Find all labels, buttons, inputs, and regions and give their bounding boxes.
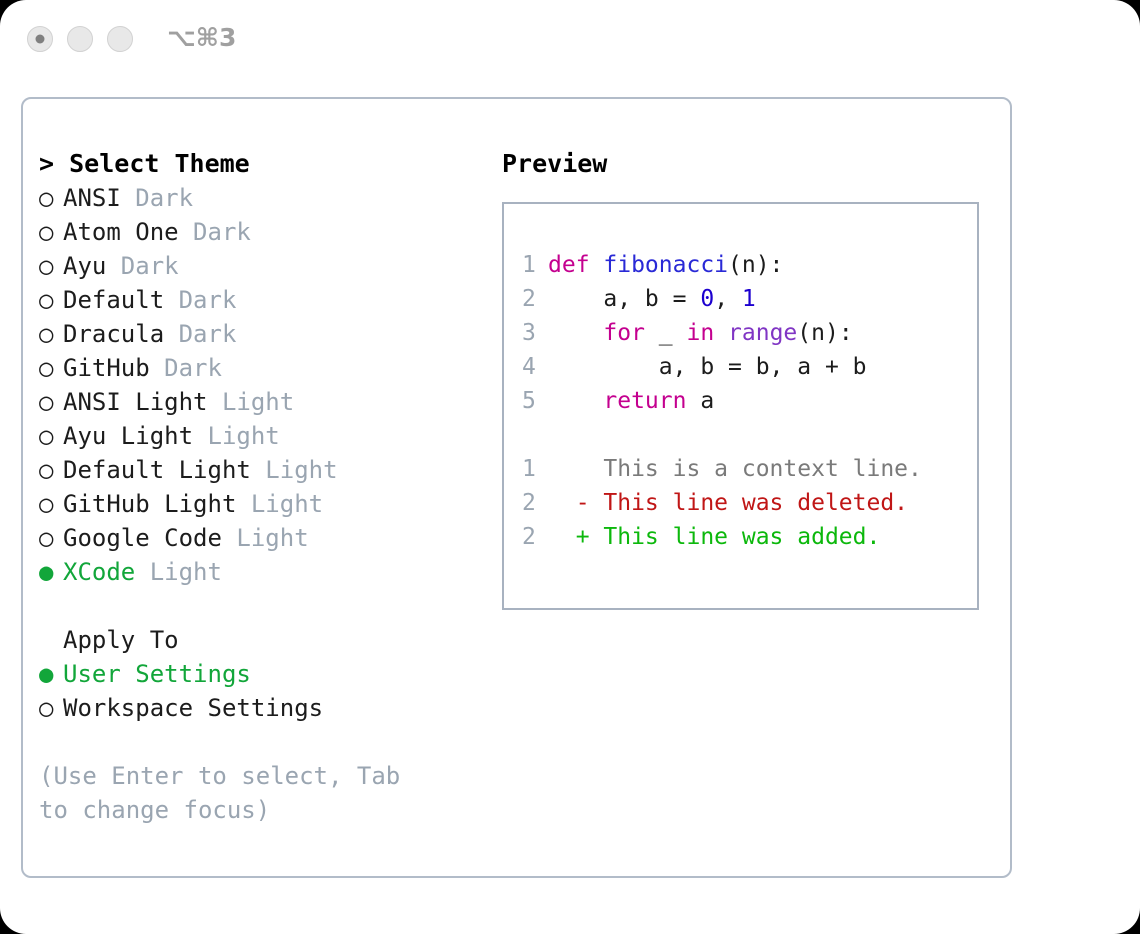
theme-picker-column: > Select Theme ○ANSI Dark○Atom One Dark○… bbox=[39, 147, 479, 827]
diff-line: 1 This is a context line. bbox=[522, 452, 977, 486]
theme-variant-badge: Light bbox=[208, 388, 295, 416]
diff-sample: 1 This is a context line.2 - This line w… bbox=[522, 452, 977, 554]
code-token: a, b = b, a + b bbox=[548, 354, 867, 380]
apply-to-option[interactable]: ○Workspace Settings bbox=[39, 691, 479, 725]
diff-line-number: 1 bbox=[522, 452, 548, 486]
apply-to-option-label: Workspace Settings bbox=[63, 694, 323, 722]
code-token: range bbox=[728, 320, 797, 346]
theme-name: Default Light bbox=[63, 456, 251, 484]
radio-selected-icon[interactable]: ● bbox=[39, 555, 63, 589]
titlebar: ⌥⌘3 bbox=[0, 0, 1140, 78]
preview-title: Preview bbox=[502, 147, 992, 181]
theme-picker-header: > Select Theme bbox=[39, 147, 479, 181]
theme-variant-badge: Dark bbox=[164, 320, 236, 348]
theme-variant-badge: Dark bbox=[106, 252, 178, 280]
code-line: 2 a, b = 0, 1 bbox=[522, 282, 977, 316]
theme-name: GitHub bbox=[63, 354, 150, 382]
radio-unselected-icon[interactable]: ○ bbox=[39, 521, 63, 555]
radio-unselected-icon[interactable]: ○ bbox=[39, 419, 63, 453]
theme-list-item[interactable]: ○ANSI Dark bbox=[39, 181, 479, 215]
theme-variant-badge: Light bbox=[222, 524, 309, 552]
diff-marker: + bbox=[548, 524, 590, 550]
diff-text: This line was added. bbox=[590, 524, 881, 550]
diff-line-number: 2 bbox=[522, 520, 548, 554]
prompt-caret: > bbox=[39, 149, 69, 178]
theme-list-item[interactable]: ○Default Dark bbox=[39, 283, 479, 317]
code-token: , bbox=[714, 286, 742, 312]
theme-name: ANSI Light bbox=[63, 388, 208, 416]
theme-variant-badge: Light bbox=[135, 558, 222, 586]
window-dot-active-indicator bbox=[36, 35, 45, 44]
code-token bbox=[548, 388, 603, 414]
main-panel: > Select Theme ○ANSI Dark○Atom One Dark○… bbox=[21, 97, 1012, 878]
theme-list: ○ANSI Dark○Atom One Dark○Ayu Dark○Defaul… bbox=[39, 181, 479, 589]
code-token: a bbox=[700, 388, 714, 414]
code-token: _ bbox=[659, 320, 687, 346]
code-token: def bbox=[548, 252, 603, 278]
radio-unselected-icon[interactable]: ○ bbox=[39, 317, 63, 351]
theme-list-item[interactable]: ●XCode Light bbox=[39, 555, 479, 589]
window-dot-3[interactable] bbox=[107, 26, 133, 52]
apply-to-option[interactable]: ●User Settings bbox=[39, 657, 479, 691]
code-line-number: 2 bbox=[522, 282, 548, 316]
apply-to-option-label: User Settings bbox=[63, 660, 251, 688]
apply-to-list: ●User Settings○Workspace Settings bbox=[39, 657, 479, 725]
code-sample: 1def fibonacci(n):2 a, b = 0, 13 for _ i… bbox=[522, 248, 977, 418]
theme-variant-badge: Light bbox=[193, 422, 280, 450]
theme-list-item[interactable]: ○Ayu Light Light bbox=[39, 419, 479, 453]
theme-name: Google Code bbox=[63, 524, 222, 552]
radio-unselected-icon[interactable]: ○ bbox=[39, 453, 63, 487]
apply-to-label-row: Apply To bbox=[39, 623, 479, 657]
diff-text: This line was deleted. bbox=[590, 490, 909, 516]
radio-unselected-icon[interactable]: ○ bbox=[39, 691, 63, 725]
theme-list-item[interactable]: ○Ayu Dark bbox=[39, 249, 479, 283]
diff-line: 2 + This line was added. bbox=[522, 520, 977, 554]
code-token: (n): bbox=[728, 252, 783, 278]
code-line-number: 3 bbox=[522, 316, 548, 350]
theme-variant-badge: Dark bbox=[121, 184, 193, 212]
radio-unselected-icon[interactable]: ○ bbox=[39, 181, 63, 215]
theme-list-item[interactable]: ○GitHub Dark bbox=[39, 351, 479, 385]
radio-unselected-icon[interactable]: ○ bbox=[39, 487, 63, 521]
radio-unselected-icon[interactable]: ○ bbox=[39, 351, 63, 385]
code-line: 1def fibonacci(n): bbox=[522, 248, 977, 282]
code-token: in bbox=[686, 320, 728, 346]
code-token bbox=[548, 320, 603, 346]
theme-name: Default bbox=[63, 286, 164, 314]
theme-list-item[interactable]: ○ANSI Light Light bbox=[39, 385, 479, 419]
theme-list-item[interactable]: ○Google Code Light bbox=[39, 521, 479, 555]
theme-variant-badge: Dark bbox=[164, 286, 236, 314]
diff-line-number: 2 bbox=[522, 486, 548, 520]
diff-marker: - bbox=[548, 490, 590, 516]
code-token: return bbox=[603, 388, 700, 414]
code-line: 3 for _ in range(n): bbox=[522, 316, 977, 350]
radio-selected-icon[interactable]: ● bbox=[39, 657, 63, 691]
preview-column: Preview 1def fibonacci(n):2 a, b = 0, 13… bbox=[502, 147, 992, 610]
theme-list-item[interactable]: ○Default Light Light bbox=[39, 453, 479, 487]
code-token: (n): bbox=[797, 320, 852, 346]
theme-name: Ayu Light bbox=[63, 422, 193, 450]
radio-unselected-icon[interactable]: ○ bbox=[39, 215, 63, 249]
code-line: 5 return a bbox=[522, 384, 977, 418]
theme-name: ANSI bbox=[63, 184, 121, 212]
app-window: ⌥⌘3 > Select Theme ○ANSI Dark○Atom One D… bbox=[0, 0, 1140, 934]
theme-variant-badge: Dark bbox=[179, 218, 251, 246]
apply-to-label: Apply To bbox=[39, 626, 179, 654]
theme-variant-badge: Light bbox=[251, 456, 338, 484]
theme-name: XCode bbox=[63, 558, 135, 586]
list-spacer bbox=[39, 589, 479, 623]
theme-list-item[interactable]: ○Atom One Dark bbox=[39, 215, 479, 249]
code-token: a, b = bbox=[548, 286, 700, 312]
theme-name: GitHub Light bbox=[63, 490, 236, 518]
code-token: for bbox=[603, 320, 658, 346]
keyboard-hint: (Use Enter to select, Tab to change focu… bbox=[39, 759, 439, 827]
window-dot-2[interactable] bbox=[67, 26, 93, 52]
code-token: 0 bbox=[700, 286, 714, 312]
radio-unselected-icon[interactable]: ○ bbox=[39, 385, 63, 419]
code-line: 4 a, b = b, a + b bbox=[522, 350, 977, 384]
theme-name: Dracula bbox=[63, 320, 164, 348]
theme-variant-badge: Dark bbox=[150, 354, 222, 382]
code-line-number: 1 bbox=[522, 248, 548, 282]
keyboard-shortcut-label: ⌥⌘3 bbox=[167, 23, 236, 52]
theme-list-item[interactable]: ○GitHub Light Light bbox=[39, 487, 479, 521]
code-token: fibonacci bbox=[603, 252, 728, 278]
page-title: Select Theme bbox=[69, 149, 250, 178]
preview-gap bbox=[522, 418, 977, 452]
diff-marker bbox=[548, 456, 590, 482]
radio-unselected-icon[interactable]: ○ bbox=[39, 283, 63, 317]
code-token: 1 bbox=[742, 286, 756, 312]
code-line-number: 4 bbox=[522, 350, 548, 384]
preview-box: 1def fibonacci(n):2 a, b = 0, 13 for _ i… bbox=[502, 202, 979, 610]
radio-unselected-icon[interactable]: ○ bbox=[39, 249, 63, 283]
diff-text: This is a context line. bbox=[590, 456, 922, 482]
theme-list-item[interactable]: ○Dracula Dark bbox=[39, 317, 479, 351]
code-line-number: 5 bbox=[522, 384, 548, 418]
window-dot-active[interactable] bbox=[27, 26, 53, 52]
theme-name: Atom One bbox=[63, 218, 179, 246]
theme-name: Ayu bbox=[63, 252, 106, 280]
theme-variant-badge: Light bbox=[236, 490, 323, 518]
diff-line: 2 - This line was deleted. bbox=[522, 486, 977, 520]
